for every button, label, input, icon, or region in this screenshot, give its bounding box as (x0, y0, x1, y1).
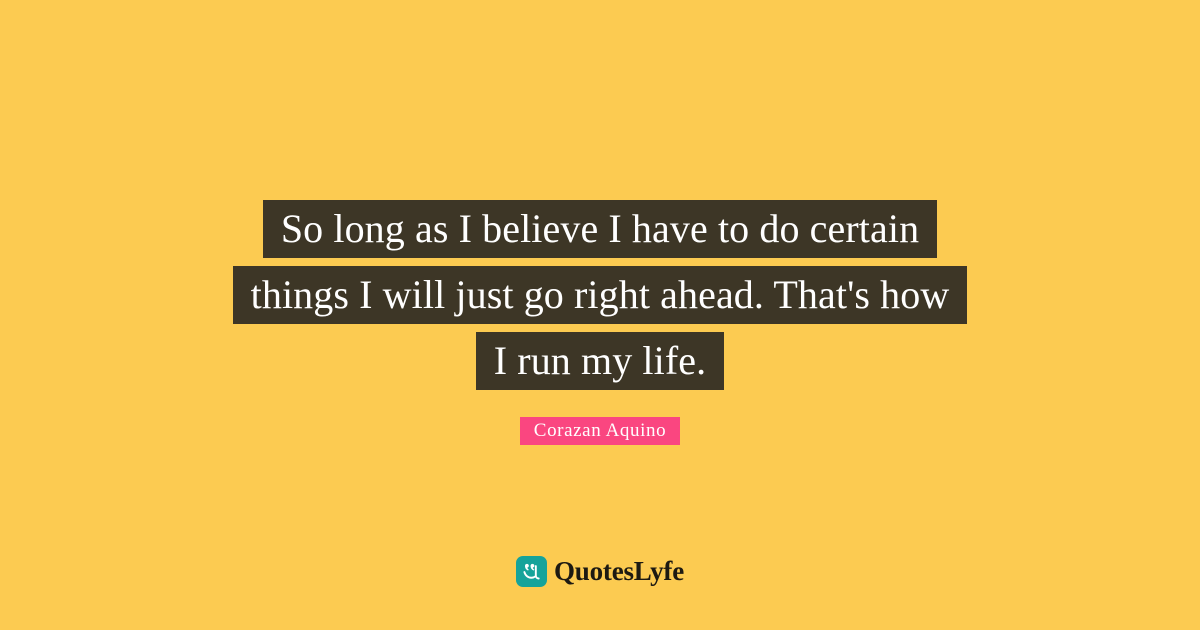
quote-card: So long as I believe I have to do certai… (0, 0, 1200, 630)
author-attribution: Corazan Aquino (0, 417, 1200, 445)
smiley-quote-icon (516, 556, 547, 587)
author-name-badge: Corazan Aquino (520, 417, 680, 445)
brand-logo: QuotesLyfe (0, 556, 1200, 587)
quote-line: things I will just go right ahead. That'… (233, 266, 968, 324)
quote-text-block: So long as I believe I have to do certai… (0, 200, 1200, 390)
quote-line: I run my life. (476, 332, 724, 390)
quote-line: So long as I believe I have to do certai… (263, 200, 937, 258)
brand-name-text: QuotesLyfe (554, 556, 684, 587)
